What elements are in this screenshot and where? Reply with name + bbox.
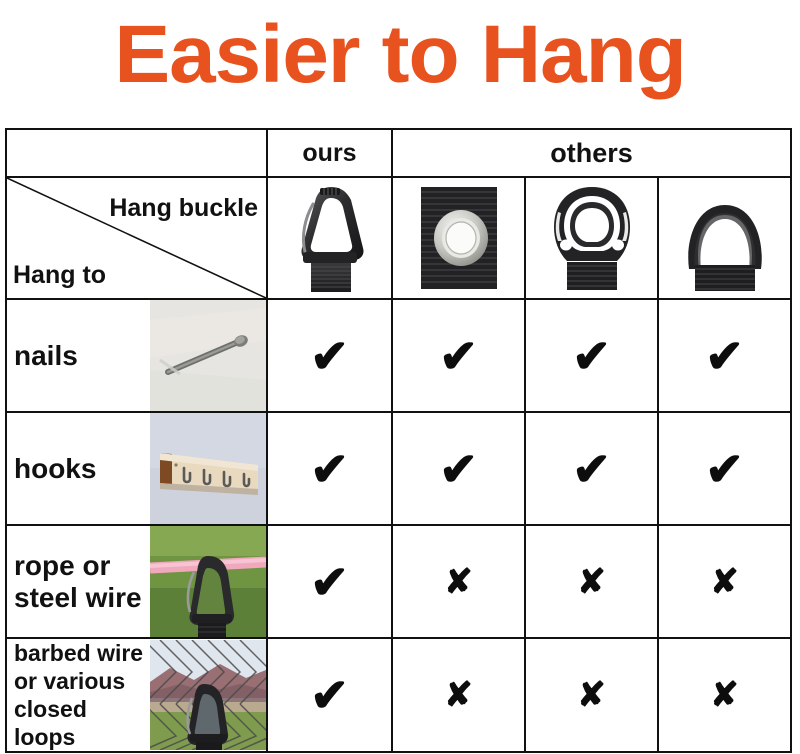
check-icon: ✔ [705,333,744,379]
other-mark-cell-2: ✔ [525,412,658,525]
table-header-row: ours others [6,129,791,177]
row-photo-fence [150,640,266,750]
check-icon: ✔ [310,559,349,605]
cross-icon: ✘ [577,565,606,599]
row-label-cell-hooks: hooks [6,412,267,525]
other-mark-cell-3: ✔ [658,299,791,412]
check-icon: ✔ [439,333,478,379]
row-label-text: hooks [7,453,150,485]
other-product-cell-2 [525,177,658,299]
row-photo-rope [150,526,266,637]
cross-icon: ✘ [444,678,473,712]
header-ours: ours [267,129,392,177]
other-mark-cell-3: ✘ [658,525,791,638]
comparison-table-wrapper: ours others Hang buckle Hang to [5,128,791,748]
other-product-photo-grommet-eyelet [393,179,524,297]
row-label-text: nails [7,340,150,372]
other-product-cell-1 [392,177,525,299]
nail-photo-icon [150,300,266,411]
row-label-line: rope or [14,550,150,582]
row-label-line: closed loops [14,695,150,751]
comparison-table: ours others Hang buckle Hang to [5,128,792,753]
cross-icon: ✘ [577,678,606,712]
grommet-eyelet-icon [413,183,505,293]
other-product-photo-plastic-loop-buckle [526,179,657,297]
carabiner-clip-icon [289,182,371,294]
plastic-loop-buckle-icon [545,183,639,293]
check-icon: ✔ [310,446,349,492]
row-photo-hook-rack [150,413,266,524]
table-row: rope or steel wire [6,525,791,638]
ours-mark-cell: ✔ [267,299,392,412]
row-label-line: barbed wire [14,639,150,667]
table-row: nails [6,299,791,412]
row-photo-nail [150,300,266,411]
row-label-text: rope or steel wire [7,550,150,614]
other-product-cell-3 [658,177,791,299]
row-label-cell-rope: rope or steel wire [6,525,267,638]
ours-product-photo-carabiner-clip [284,179,376,297]
row-label-cell-barbed-wire: barbed wire or various closed loops [6,638,267,752]
check-icon: ✔ [572,446,611,492]
check-icon: ✔ [439,446,478,492]
check-icon: ✔ [310,333,349,379]
row-label-line: steel wire [14,582,150,614]
page-title: Easier to Hang [114,14,685,96]
ours-mark-cell: ✔ [267,412,392,525]
row-label-cell-nails: nails [6,299,267,412]
check-icon: ✔ [705,446,744,492]
d-ring-loop-icon [675,183,775,293]
other-mark-cell-1: ✔ [392,299,525,412]
clip-on-fence-photo-icon [150,640,266,750]
other-mark-cell-1: ✘ [392,638,525,752]
other-mark-cell-3: ✘ [658,638,791,752]
row-label-line: or various [14,667,150,695]
other-mark-cell-1: ✔ [392,412,525,525]
row-axis-label: Hang to [13,261,106,290]
ours-mark-cell: ✔ [267,525,392,638]
other-mark-cell-2: ✘ [525,638,658,752]
ours-mark-cell: ✔ [267,638,392,752]
other-mark-cell-2: ✘ [525,525,658,638]
other-mark-cell-3: ✔ [658,412,791,525]
ours-product-cell [267,177,392,299]
table-row: barbed wire or various closed loops [6,638,791,752]
title-banner: Easier to Hang [0,0,800,118]
other-product-photo-d-ring-loop [659,179,790,297]
hook-rack-photo-icon [150,413,266,524]
clip-on-rope-photo-icon [150,526,266,637]
hang-buckle-row: Hang buckle Hang to [6,177,791,299]
axis-split-cell: Hang buckle Hang to [6,177,267,299]
column-axis-label: Hang buckle [109,194,258,223]
cross-icon: ✘ [444,565,473,599]
other-mark-cell-2: ✔ [525,299,658,412]
cross-icon: ✘ [710,565,739,599]
header-others: others [392,129,791,177]
other-mark-cell-1: ✘ [392,525,525,638]
header-corner-blank [6,129,267,177]
row-label-text: barbed wire or various closed loops [7,639,150,751]
cross-icon: ✘ [710,678,739,712]
table-row: hooks [6,412,791,525]
check-icon: ✔ [572,333,611,379]
check-icon: ✔ [310,672,349,718]
